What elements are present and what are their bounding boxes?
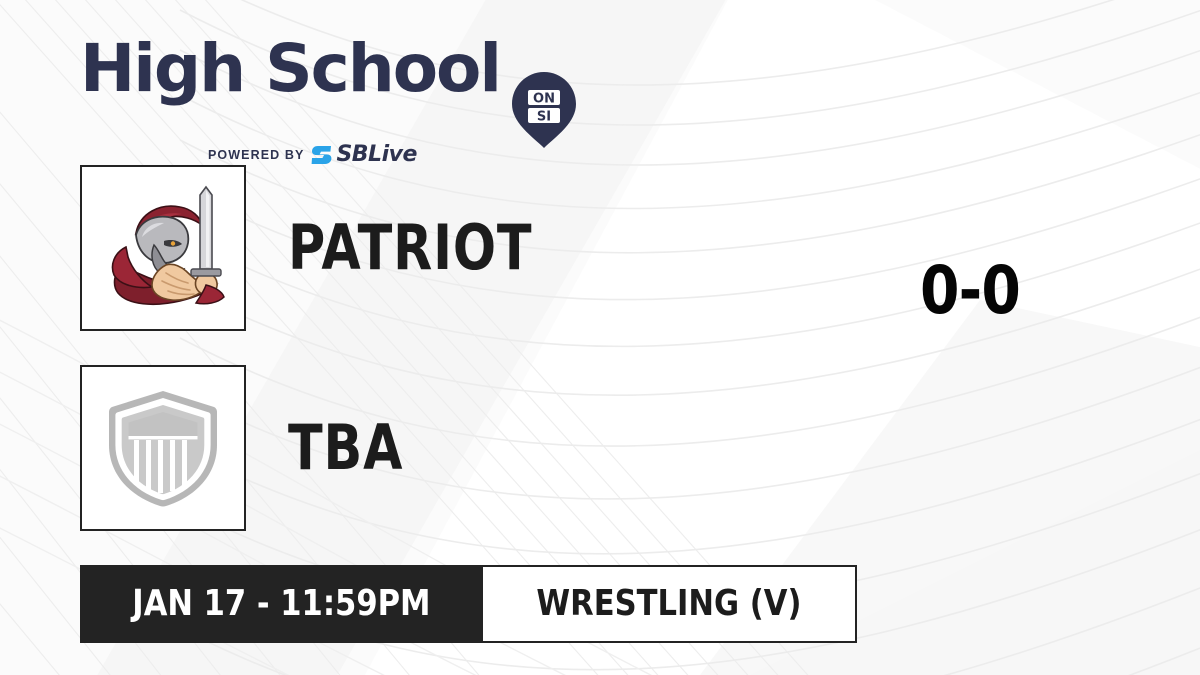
spartan-warrior-logo [88, 173, 238, 323]
score-display: 0-0 [875, 258, 1064, 324]
game-sport-block: WRESTLING (V) [483, 565, 857, 643]
game-datetime-text: JAN 17 - 11:59PM [132, 586, 430, 622]
placeholder-shield-logo [98, 383, 228, 513]
game-info-bar: JAN 17 - 11:59PM WRESTLING (V) [80, 565, 857, 643]
team-name-away: TBA [288, 417, 403, 479]
powered-by-row: POWERED BY SBLive [208, 144, 417, 166]
pin-label-on: ON [533, 92, 555, 107]
brand-header: High School ON SI POWERED BY SBLive [80, 36, 510, 136]
on-si-pin-icon: ON SI [512, 70, 576, 148]
sblive-logo: SBLive [311, 144, 416, 166]
game-sport-text: WRESTLING (V) [536, 586, 801, 622]
team-name-home: PATRIOT [288, 217, 532, 279]
scoreboard-graphic: High School ON SI POWERED BY SBLive [0, 0, 1200, 675]
team-logo-box-away [80, 365, 246, 531]
sblive-bolt-icon [311, 145, 333, 165]
team-logo-box-home [80, 165, 246, 331]
sblive-wordmark: SBLive [336, 144, 416, 166]
game-datetime-block: JAN 17 - 11:59PM [80, 565, 483, 643]
pin-label-si: SI [537, 110, 551, 125]
team-row-home: PATRIOT [80, 165, 586, 331]
powered-by-label: POWERED BY [208, 148, 304, 162]
brand-title: High School [80, 36, 500, 102]
team-row-away: TBA [80, 365, 429, 531]
